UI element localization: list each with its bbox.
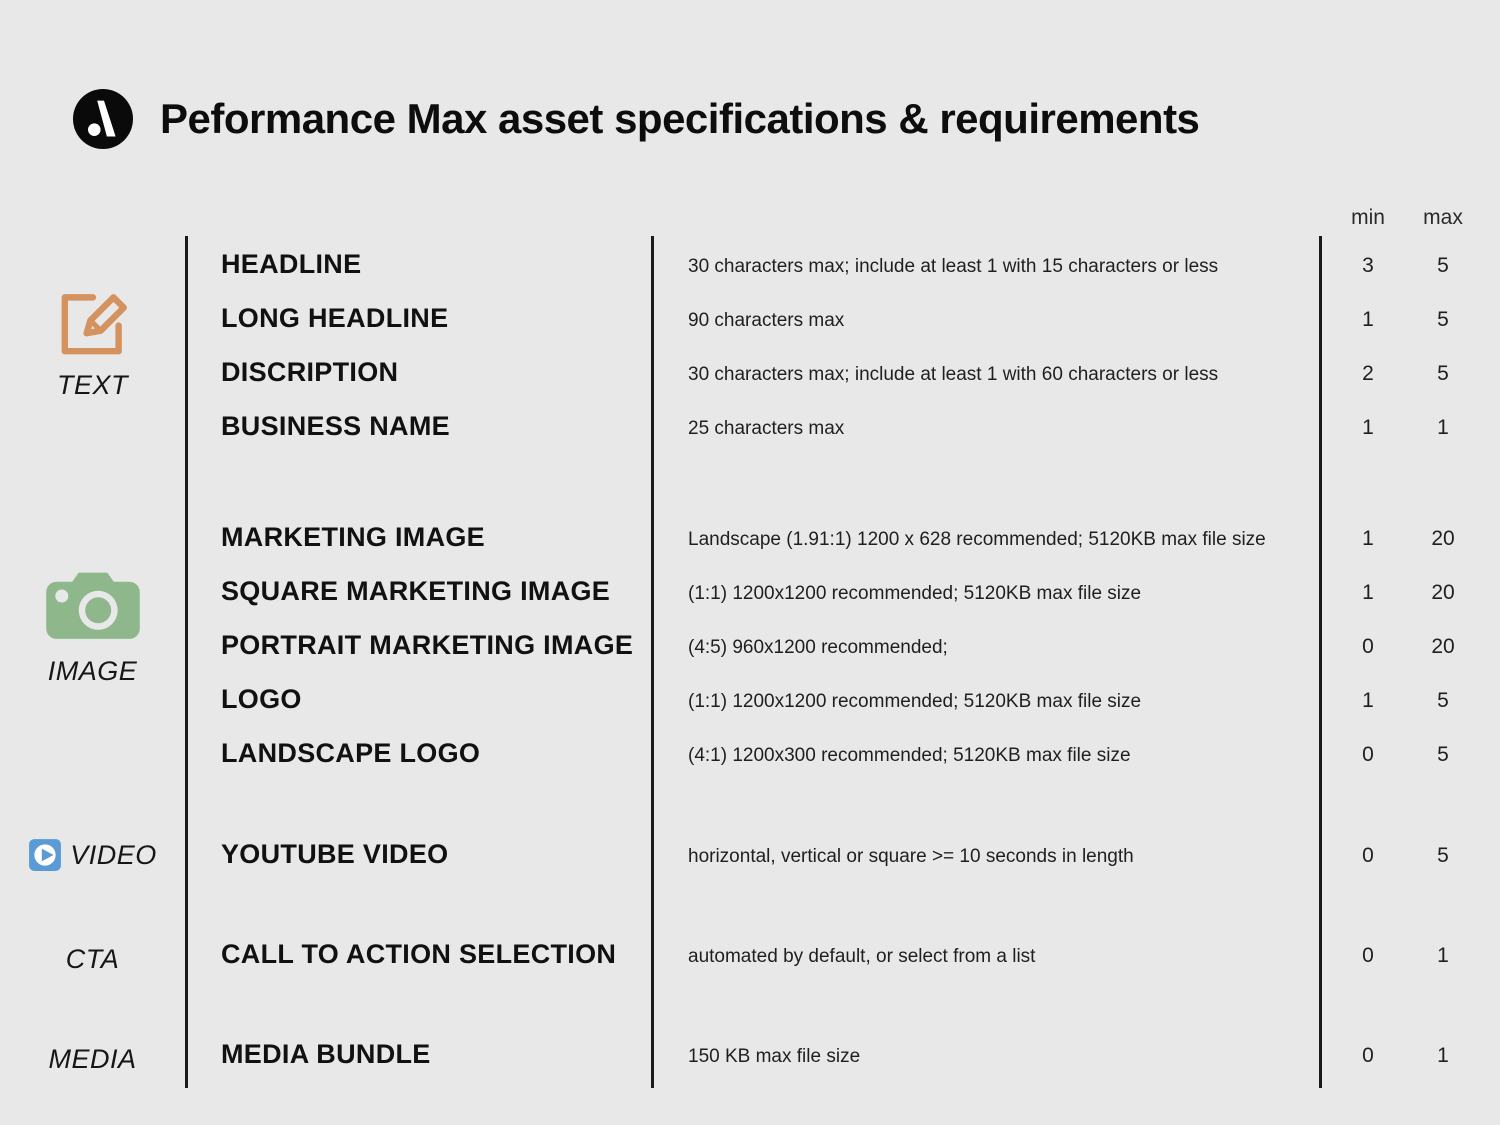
row-name: BUSINESS NAME [221, 411, 450, 442]
row-max: 1 [1408, 416, 1478, 440]
row-max: 20 [1408, 527, 1478, 551]
row-max: 20 [1408, 635, 1478, 659]
category-label-image: IMAGE [48, 656, 138, 687]
row-min: 0 [1333, 743, 1403, 767]
category-cta: CTA [0, 938, 185, 975]
row-description: 90 characters max [688, 310, 844, 332]
category-text: TEXT [0, 282, 185, 401]
row-name: SQUARE MARKETING IMAGE [221, 576, 610, 607]
row-max: 5 [1408, 743, 1478, 767]
row-max: 1 [1408, 944, 1478, 968]
row-min: 1 [1333, 308, 1403, 332]
row-description: 25 characters max [688, 418, 844, 440]
row-description: 150 KB max file size [688, 1046, 860, 1068]
row-description: (4:5) 960x1200 recommended; [688, 637, 948, 659]
category-image: IMAGE [0, 568, 185, 687]
category-label-media: MEDIA [48, 1044, 136, 1075]
divider-category [185, 236, 188, 1088]
row-description: Landscape (1.91:1) 1200 x 628 recommende… [688, 529, 1266, 551]
google-ads-logo-icon [72, 88, 134, 150]
category-label-text: TEXT [57, 370, 128, 401]
row-name: HEADLINE [221, 249, 361, 280]
row-min: 0 [1333, 944, 1403, 968]
row-description: 30 characters max; include at least 1 wi… [688, 256, 1218, 278]
category-video: VIDEO [0, 838, 185, 872]
camera-icon [41, 568, 145, 650]
category-media: MEDIA [0, 1038, 185, 1075]
row-description: 30 characters max; include at least 1 wi… [688, 364, 1218, 386]
page-title: Peformance Max asset specifications & re… [160, 98, 1199, 140]
row-description: (4:1) 1200x300 recommended; 5120KB max f… [688, 745, 1131, 767]
row-name: LANDSCAPE LOGO [221, 738, 480, 769]
column-header-max: max [1408, 206, 1478, 230]
divider-description [651, 236, 654, 1088]
row-max: 5 [1408, 362, 1478, 386]
row-max: 1 [1408, 1044, 1478, 1068]
play-button-icon [28, 838, 62, 872]
row-name: LONG HEADLINE [221, 303, 448, 334]
row-name: LOGO [221, 684, 302, 715]
row-name: PORTRAIT MARKETING IMAGE [221, 630, 633, 661]
row-min: 1 [1333, 689, 1403, 713]
row-max: 5 [1408, 844, 1478, 868]
row-name: YOUTUBE VIDEO [221, 839, 448, 870]
row-max: 5 [1408, 689, 1478, 713]
row-min: 0 [1333, 635, 1403, 659]
row-description: (1:1) 1200x1200 recommended; 5120KB max … [688, 691, 1141, 713]
category-label-cta: CTA [66, 944, 120, 975]
row-description: (1:1) 1200x1200 recommended; 5120KB max … [688, 583, 1141, 605]
row-max: 5 [1408, 254, 1478, 278]
row-min: 0 [1333, 1044, 1403, 1068]
row-name: MEDIA BUNDLE [221, 1039, 431, 1070]
row-min: 1 [1333, 416, 1403, 440]
row-name: MARKETING IMAGE [221, 522, 485, 553]
row-min: 1 [1333, 527, 1403, 551]
row-description: horizontal, vertical or square >= 10 sec… [688, 846, 1134, 868]
row-name: CALL TO ACTION SELECTION [221, 939, 616, 970]
row-max: 20 [1408, 581, 1478, 605]
row-description: automated by default, or select from a l… [688, 946, 1035, 968]
divider-counts [1319, 236, 1322, 1088]
row-max: 5 [1408, 308, 1478, 332]
row-min: 0 [1333, 844, 1403, 868]
row-min: 1 [1333, 581, 1403, 605]
row-name: DISCRIPTION [221, 357, 398, 388]
row-min: 3 [1333, 254, 1403, 278]
column-header-min: min [1333, 206, 1403, 230]
row-min: 2 [1333, 362, 1403, 386]
category-label-video: VIDEO [70, 840, 157, 871]
pencil-note-icon [52, 282, 134, 364]
page-header: Peformance Max asset specifications & re… [72, 88, 1199, 150]
